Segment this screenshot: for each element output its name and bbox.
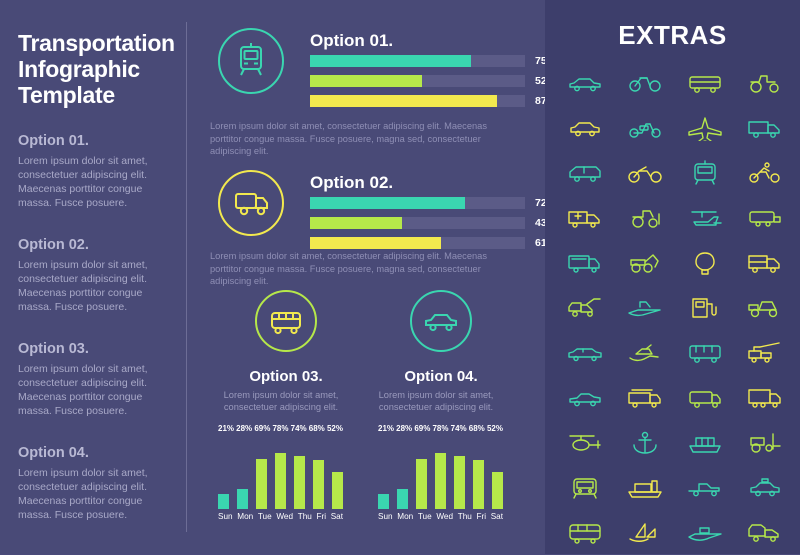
truck-cargo-icon[interactable] [555,240,615,285]
bus-icon[interactable] [555,510,615,555]
chart-4-cat-6: Sat [491,512,503,521]
helicopter-side-icon[interactable] [555,420,615,465]
van-icon[interactable] [675,60,735,105]
chart-4-label-1: 28% [396,424,412,433]
train-icon [218,28,284,94]
infographic-root: Transportation Infographic Template Opti… [0,0,800,554]
motorboat-icon[interactable] [675,510,735,555]
chart-4-category-labels: Sun Mon Tue Wed Thu Fri Sat [378,512,503,521]
tow-truck-icon[interactable] [555,285,615,330]
bar-fill-2 [310,75,422,87]
bulldozer-icon[interactable] [615,195,675,240]
pickup-truck-icon[interactable] [675,465,735,510]
left-option-4-head: Option 04. [18,445,178,461]
chart-4-bar-6 [492,472,503,509]
chart-option-04: 21% 28% 69% 78% 74% 68% 52% Sun Mon T [378,424,503,526]
chart-4-bar-2 [416,459,427,509]
chart-3-bar-0 [218,494,229,509]
chart-3-cat-2: Tue [258,512,272,521]
vertical-divider [186,22,187,532]
bicycle-icon[interactable] [615,60,675,105]
chart-4-bar-0 [378,494,389,509]
left-option-1: Option 01. Lorem ipsum dolor sit amet, c… [18,133,178,210]
chart-4-label-4: 74% [451,424,467,433]
block-4-title: Option 04. [381,368,501,385]
chart-3-bar-1 [237,489,248,509]
chart-3-label-0: 21% [218,424,234,433]
chart-3-cat-4: Thu [298,512,312,521]
bar-fill-3 [310,95,497,107]
bicycle-rider-icon[interactable] [735,150,795,195]
tractor-icon[interactable] [735,60,795,105]
chart-3-bar-2 [256,459,267,509]
left-option-3-head: Option 03. [18,341,178,357]
hot-air-balloon-icon[interactable] [675,240,735,285]
extras-icon-grid [555,60,795,555]
hatchback-car-icon[interactable] [555,105,615,150]
chart-4-label-2: 69% [414,424,430,433]
chart-3-label-6: 52% [327,424,343,433]
convertible-car-icon[interactable] [555,375,615,420]
left-option-1-head: Option 01. [18,133,178,149]
chart-4-bar-3 [435,453,446,509]
chart-3-value-labels: 21% 28% 69% 78% 74% 68% 52% [218,424,343,433]
block-3-paragraph: Lorem ipsum dolor sit amet, consectetuer… [221,389,341,413]
sports-car-icon[interactable] [555,60,615,105]
chart-3-cat-5: Fri [316,512,326,521]
cement-mixer-icon[interactable] [735,285,795,330]
chart-3-cat-1: Mon [237,512,253,521]
ambulance-icon[interactable] [555,195,615,240]
chart-4-cat-5: Fri [476,512,486,521]
truck-icon [218,170,284,236]
tram-icon[interactable] [675,150,735,195]
left-option-2-body: Lorem ipsum dolor sit amet, consectetuer… [18,258,178,314]
chart-3-cat-3: Wed [276,512,293,521]
left-option-2-head: Option 02. [18,237,178,253]
car-icon [410,290,472,352]
chart-4-cat-2: Tue [418,512,432,521]
minivan-icon[interactable] [555,150,615,195]
chart-3-bar-4 [294,456,305,509]
bar-fill-2 [310,217,402,229]
left-option-4-body: Lorem ipsum dolor sit amet, consectetuer… [18,466,178,522]
chart-4-bar-1 [397,489,408,509]
camper-van-icon[interactable] [675,375,735,420]
chart-3-bar-6 [332,472,343,509]
chart-4-label-5: 68% [469,424,485,433]
chart-3-bar-5 [313,460,324,509]
trailer-icon[interactable] [735,195,795,240]
semi-trailer-icon[interactable] [735,375,795,420]
chart-3-bar-3 [275,453,286,509]
speedboat-icon[interactable] [615,285,675,330]
motorcycle-icon[interactable] [615,150,675,195]
block-3-title: Option 03. [226,368,346,385]
bar-fill-1 [310,55,471,67]
cargo-ship-icon[interactable] [615,465,675,510]
limousine-icon[interactable] [555,330,615,375]
ferry-boat-icon[interactable] [675,420,735,465]
chart-3-label-4: 74% [291,424,307,433]
bus-icon [255,290,317,352]
left-panel: Transportation Infographic Template Opti… [0,0,186,554]
chart-3-plot [218,437,343,509]
chart-3-label-1: 28% [236,424,252,433]
block-2-title: Option 02. [310,173,393,193]
title-line-3: Template [18,82,183,108]
helicopter-icon[interactable] [675,195,735,240]
chart-4-cat-1: Mon [397,512,413,521]
fuel-pump-icon[interactable] [675,285,735,330]
taxi-icon[interactable] [735,465,795,510]
left-option-3: Option 03. Lorem ipsum dolor sit amet, c… [18,341,178,418]
chart-3-label-5: 68% [309,424,325,433]
chart-3-cat-0: Sun [218,512,233,521]
extras-title: EXTRAS [545,20,800,51]
extras-panel: EXTRAS [545,0,800,554]
block-1-title: Option 01. [310,31,393,51]
anchor-icon[interactable] [615,420,675,465]
block-1-paragraph: Lorem ipsum dolor sit amet, consectetuer… [210,120,515,158]
airplane-icon[interactable] [675,105,735,150]
box-truck-icon[interactable] [735,240,795,285]
chart-4-label-3: 78% [432,424,448,433]
middle-panel: Option 01. 75% 52% 87% Lorem ipsum dolor… [200,0,545,554]
school-bus-icon[interactable] [675,330,735,375]
crane-truck-icon[interactable] [735,330,795,375]
chart-3-cat-6: Sat [331,512,343,521]
block-4-paragraph: Lorem ipsum dolor sit amet, consectetuer… [376,389,496,413]
chart-4-bar-4 [454,456,465,509]
dump-truck-icon[interactable] [735,510,795,555]
scooter-icon[interactable] [615,105,675,150]
title-line-1: Transportation [18,30,183,56]
chart-4-cat-4: Thu [458,512,472,521]
chart-4-plot [378,437,503,509]
jetski-icon[interactable] [615,330,675,375]
chart-4-label-6: 52% [487,424,503,433]
chart-4-cat-0: Sun [378,512,393,521]
sailboat-icon[interactable] [615,510,675,555]
chart-4-label-0: 21% [378,424,394,433]
left-option-2: Option 02. Lorem ipsum dolor sit amet, c… [18,237,178,314]
chart-4-cat-3: Wed [436,512,453,521]
block-2-paragraph: Lorem ipsum dolor sit amet, consectetuer… [210,250,515,288]
chart-option-03: 21% 28% 69% 78% 74% 68% 52% Sun Mon T [218,424,343,526]
title-line-2: Infographic [18,56,183,82]
chart-3-label-2: 69% [254,424,270,433]
excavator-icon[interactable] [615,240,675,285]
train-icon[interactable] [555,465,615,510]
forklift-icon[interactable] [735,420,795,465]
bar-fill-1 [310,197,465,209]
chart-4-value-labels: 21% 28% 69% 78% 74% 68% 52% [378,424,503,433]
left-option-4: Option 04. Lorem ipsum dolor sit amet, c… [18,445,178,522]
page-title: Transportation Infographic Template [18,30,183,108]
left-option-3-body: Lorem ipsum dolor sit amet, consectetuer… [18,362,178,418]
chart-4-bar-5 [473,460,484,509]
chart-3-label-3: 78% [272,424,288,433]
fire-truck-icon[interactable] [615,375,675,420]
bar-fill-3 [310,237,441,249]
chart-3-category-labels: Sun Mon Tue Wed Thu Fri Sat [218,512,343,521]
delivery-truck-icon[interactable] [735,105,795,150]
left-option-1-body: Lorem ipsum dolor sit amet, consectetuer… [18,154,178,210]
